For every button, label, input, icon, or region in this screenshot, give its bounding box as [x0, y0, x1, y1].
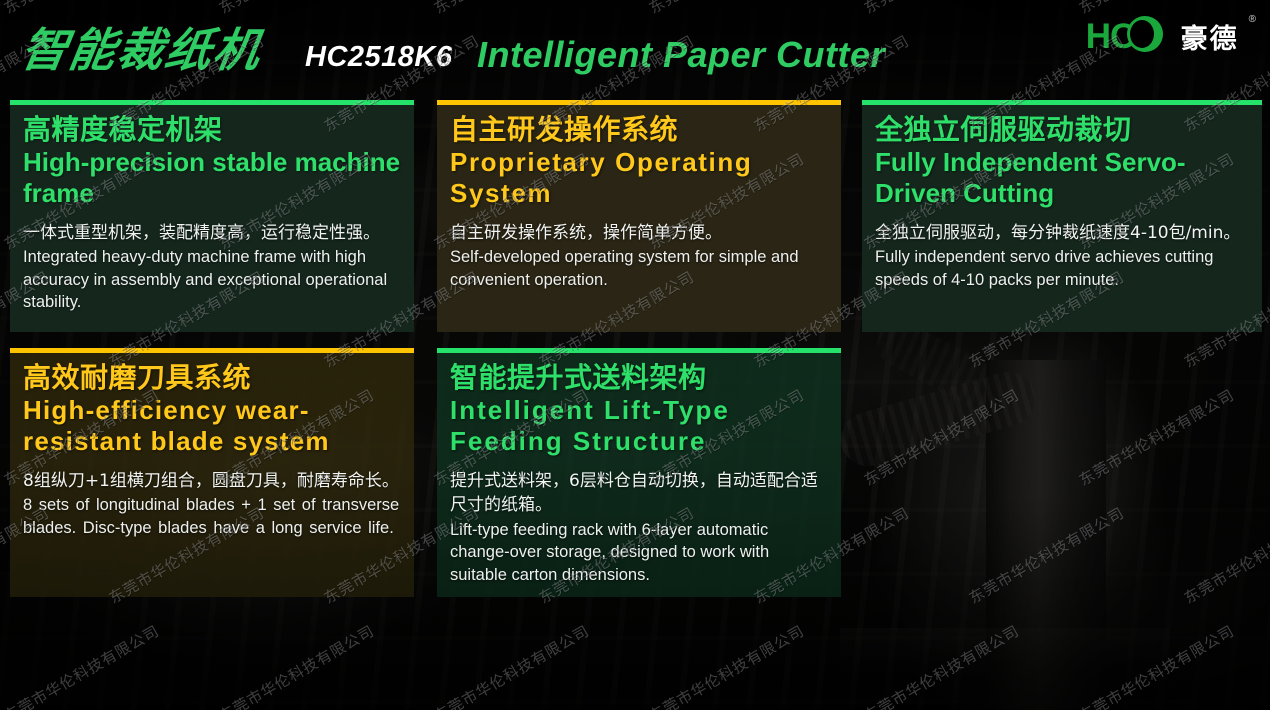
card-heading-chinese: 高精度稳定机架 [23, 114, 401, 146]
feature-card-fully-independent-servo-driven-cutting[interactable]: 全独立伺服驱动裁切 Fully Independent Servo-Driven… [862, 100, 1262, 332]
card-body-english: 8 sets of longitudinal blades + 1 set of… [23, 494, 401, 539]
model-number: HC2518K6 [305, 41, 452, 74]
card-body-chinese: 全独立伺服驱动，每分钟裁纸速度4-10包/min。 [875, 221, 1249, 246]
card-heading-english: Proprietary Operating System [450, 147, 828, 209]
feature-card-proprietary-operating-system[interactable]: 自主研发操作系统 Proprietary Operating System 自主… [437, 100, 841, 332]
card-heading-chinese: 智能提升式送料架构 [450, 362, 828, 394]
page-header: 智能裁纸机 HC2518K6 Intelligent Paper Cutter … [0, 0, 1270, 95]
card-heading-english: Intelligent Lift-Type Feeding Structure [450, 395, 828, 457]
card-accent-bar [10, 348, 414, 353]
card-accent-bar [10, 100, 414, 105]
feature-card-high-efficiency-wear-resistant-blade-system[interactable]: 高效耐磨刀具系统 High-efficiency wear-resistant … [10, 348, 414, 597]
card-heading-english: High-precision stable machine frame [23, 147, 401, 209]
card-heading-chinese: 自主研发操作系统 [450, 114, 828, 146]
card-heading-english: Fully Independent Servo-Driven Cutting [875, 147, 1249, 209]
card-body-chinese: 8组纵刀+1组横刀组合，圆盘刀具，耐磨寿命长。 [23, 469, 401, 494]
logo-chinese-name: 豪德 [1181, 17, 1239, 56]
card-body-english: Fully independent servo drive achieves c… [875, 246, 1249, 291]
logo-wordmark: HOL [1086, 19, 1157, 54]
registered-trademark-icon: ® [1249, 14, 1256, 25]
card-heading-english: High-efficiency wear-resistant blade sys… [23, 395, 401, 457]
card-body-english: Self-developed operating system for simp… [450, 246, 828, 291]
card-body-english: Lift-type feeding rack with 6-layer auto… [450, 519, 828, 586]
card-heading-chinese: 全独立伺服驱动裁切 [875, 114, 1249, 146]
page-title-english: Intelligent Paper Cutter [477, 34, 885, 76]
card-body-english: Integrated heavy-duty machine frame with… [23, 246, 401, 313]
card-accent-bar [862, 100, 1262, 105]
page-title-chinese: 智能裁纸机 [17, 14, 267, 80]
logo-d-circle-icon [1127, 16, 1163, 52]
brand-logo[interactable]: HOL 豪德 ® [1086, 12, 1256, 60]
card-accent-bar [437, 348, 841, 353]
card-body-chinese: 一体式重型机架，装配精度高，运行稳定性强。 [23, 221, 401, 246]
card-body-chinese: 提升式送料架，6层料仓自动切换，自动适配合适尺寸的纸箱。 [450, 469, 828, 518]
feature-card-intelligent-lift-type-feeding-structure[interactable]: 智能提升式送料架构 Intelligent Lift-Type Feeding … [437, 348, 841, 597]
feature-card-high-precision-stable-machine-frame[interactable]: 高精度稳定机架 High-precision stable machine fr… [10, 100, 414, 332]
card-heading-chinese: 高效耐磨刀具系统 [23, 362, 401, 394]
card-body-chinese: 自主研发操作系统，操作简单方便。 [450, 221, 828, 246]
card-accent-bar [437, 100, 841, 105]
